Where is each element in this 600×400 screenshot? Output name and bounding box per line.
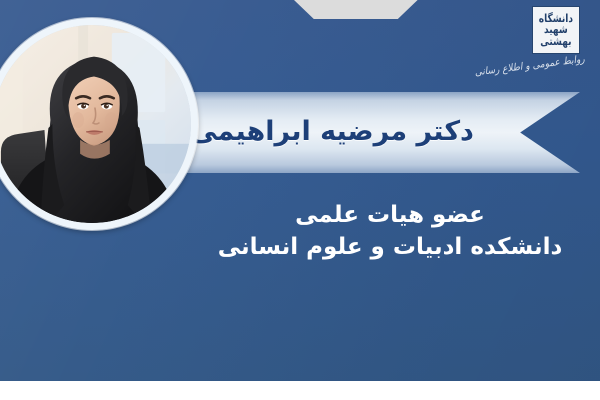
portrait-photo [0, 25, 191, 223]
person-name: دکتر مرضیه ابراهیمی [190, 116, 474, 147]
caption-block: عضو هیات علمی دانشکده ادبیات و علوم انسا… [200, 200, 580, 264]
faculty-name: دانشکده ادبیات و علوم انسانی [200, 231, 580, 264]
university-logo-mark-text: دانشگاه شهید بهشتی [539, 12, 573, 49]
faculty-profile-card: دکتر مرضیه ابراهیمی [0, 0, 600, 400]
public-relations-subtitle: روابط عمومی و اطلاع رسانی [489, 54, 585, 78]
university-logo: دانشگاه شهید بهشتی روابط عمومی و اطلاع ر… [476, 6, 586, 88]
university-logo-mark: دانشگاه شهید بهشتی [532, 6, 580, 54]
logo-line-1: دانشگاه [539, 13, 573, 25]
academic-role: عضو هیات علمی [200, 200, 580, 231]
logo-line-3: بهشتی [539, 36, 573, 48]
